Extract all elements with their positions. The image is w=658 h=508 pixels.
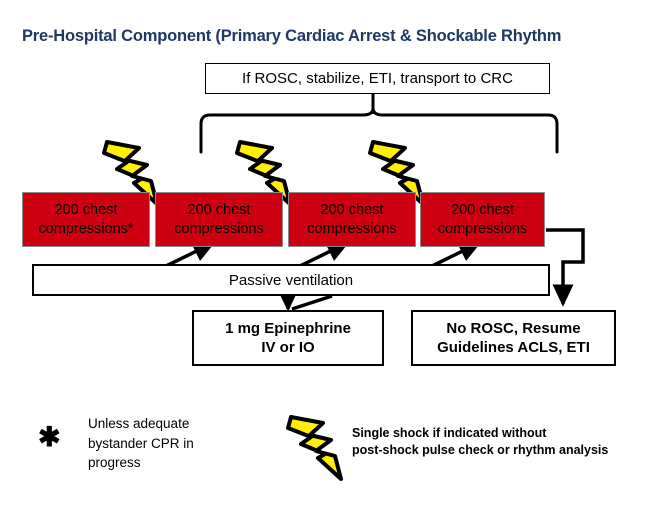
asterisk-icon: ✱ (38, 424, 61, 451)
asterisk-note-line1: Unless adequate (88, 416, 189, 431)
rosc-box: If ROSC, stabilize, ETI, transport to CR… (205, 63, 550, 94)
bolt-note-line1: Single shock if indicated without (352, 426, 546, 440)
ventilation-to-epinephrine-diagonal (292, 296, 332, 309)
bolt-legend-note: Single shock if indicated without post-s… (352, 425, 652, 459)
page-title: Pre-Hospital Component (Primary Cardiac … (22, 27, 561, 46)
asterisk-note-line2: bystander CPR in (88, 436, 194, 451)
compression-box-4-line1: 200 chest (451, 202, 514, 218)
passive-ventilation-label: Passive ventilation (229, 272, 353, 289)
epinephrine-line1: 1 mg Epinephrine (225, 320, 351, 337)
asterisk-note-line3: progress (88, 455, 141, 470)
compression-box-3-label: 200 chest compressions (307, 201, 396, 237)
compression-box-4-line2: compressions (438, 221, 527, 237)
bolt-note-line2: post-shock pulse check or rhythm analysi… (352, 443, 608, 457)
compression-box-1: 200 chest compressions* (22, 192, 150, 247)
compression-box-4: 200 chest compressions (420, 192, 545, 247)
compression-box-2-line1: 200 chest (188, 202, 251, 218)
asterisk-legend-note: Unless adequate bystander CPR in progres… (88, 414, 218, 473)
legend-lightning-bolt-icon (288, 417, 341, 479)
no-rosc-label: No ROSC, Resume Guidelines ACLS, ETI (437, 319, 590, 358)
compression-box-1-line1: 200 chest (55, 202, 118, 218)
compression-box-3-line2: compressions (307, 221, 396, 237)
rosc-box-label: If ROSC, stabilize, ETI, transport to CR… (242, 70, 513, 87)
top-curly-brace (201, 108, 557, 152)
compression-box-3-line1: 200 chest (321, 202, 384, 218)
no-rosc-box: No ROSC, Resume Guidelines ACLS, ETI (411, 310, 616, 366)
no-rosc-line1: No ROSC, Resume (446, 320, 580, 337)
compression-box-4-label: 200 chest compressions (438, 201, 527, 237)
passive-ventilation-box: Passive ventilation (32, 264, 550, 296)
compression-box-1-label: 200 chest compressions* (38, 201, 133, 237)
diagram-canvas: Pre-Hospital Component (Primary Cardiac … (0, 0, 658, 508)
compression-box-2-label: 200 chest compressions (174, 201, 263, 237)
compression-box-3: 200 chest compressions (288, 192, 416, 247)
no-rosc-line2: Guidelines ACLS, ETI (437, 339, 590, 356)
compression-box-2-line2: compressions (174, 221, 263, 237)
compression-box-1-line2: compressions* (38, 221, 133, 237)
epinephrine-label: 1 mg Epinephrine IV or IO (225, 319, 351, 358)
epinephrine-line2: IV or IO (261, 339, 314, 356)
epinephrine-box: 1 mg Epinephrine IV or IO (192, 310, 384, 366)
compression-to-no-rosc-connector (546, 230, 583, 304)
compression-box-2: 200 chest compressions (155, 192, 283, 247)
